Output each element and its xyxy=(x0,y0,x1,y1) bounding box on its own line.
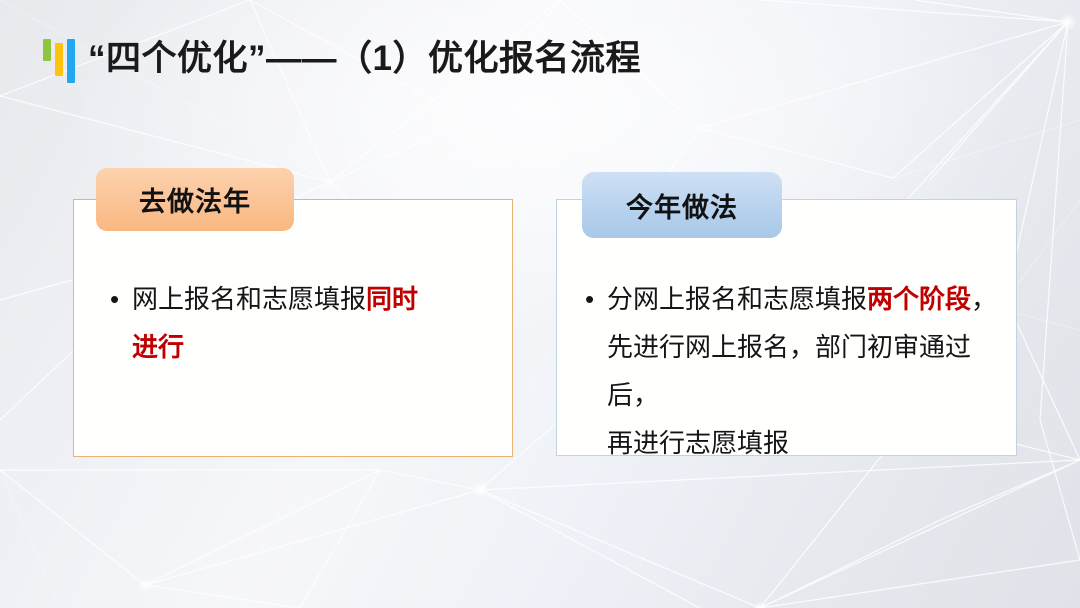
accent-bar-green-icon xyxy=(43,39,51,61)
body-text-span: 再进行志愿填报 xyxy=(607,428,789,458)
accent-bar-blue-icon xyxy=(67,39,75,83)
slide-canvas: “四个优化”——（1）优化报名流程 去做法年 •网上报名和志愿填报同时进行 今年… xyxy=(0,0,1080,608)
card-last-year-line-text: 网上报名和志愿填报同时 xyxy=(110,275,490,323)
body-text-span: 先进行网上报名，部门初审通过后， xyxy=(607,332,971,410)
emphasis-text: 同时 xyxy=(366,284,418,314)
card-last-year-line: 进行 xyxy=(110,323,490,371)
page-title: “四个优化”——（1）优化报名流程 xyxy=(88,36,641,82)
card-this-year-line-text: 再进行志愿填报 xyxy=(585,419,1005,467)
bullet-icon: • xyxy=(585,275,607,323)
card-this-year-line: 先进行网上报名，部门初审通过后， xyxy=(585,323,1005,419)
slide-title-row: “四个优化”——（1）优化报名流程 xyxy=(42,36,641,92)
card-this-year-line: 再进行志愿填报 xyxy=(585,419,1005,467)
card-this-year-line-text: 先进行网上报名，部门初审通过后， xyxy=(585,323,1005,419)
card-last-year-body: •网上报名和志愿填报同时进行 xyxy=(110,275,490,371)
bullet-icon: • xyxy=(110,275,132,323)
card-last-year-line-text: 进行 xyxy=(110,323,490,371)
body-text-span: ， xyxy=(971,284,997,314)
card-last-year-tag: 去做法年 xyxy=(96,168,294,231)
card-this-year-line: •分网上报名和志愿填报两个阶段， xyxy=(585,275,1005,323)
emphasis-text: 两个阶段 xyxy=(867,284,971,314)
emphasis-text: 进行 xyxy=(132,332,184,362)
card-this-year-tag: 今年做法 xyxy=(582,172,782,238)
card-last-year-line: •网上报名和志愿填报同时 xyxy=(110,275,490,323)
body-text-span: 网上报名和志愿填报 xyxy=(132,284,366,314)
accent-bar-yellow-icon xyxy=(55,43,63,76)
body-text-span: 分网上报名和志愿填报 xyxy=(607,284,867,314)
card-this-year-line-text: 分网上报名和志愿填报两个阶段， xyxy=(585,275,1005,323)
card-this-year-body: •分网上报名和志愿填报两个阶段，先进行网上报名，部门初审通过后，再进行志愿填报 xyxy=(585,275,1005,467)
title-accent-bars xyxy=(42,39,75,85)
